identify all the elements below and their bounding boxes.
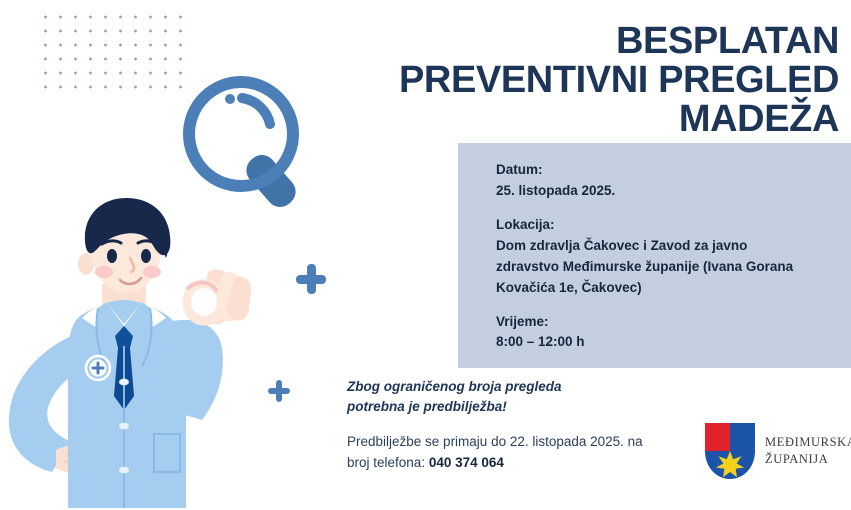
location-value: Dom zdravlja Čakovec i Zavod za javno zd… (496, 236, 806, 299)
date-value: 25. listopada 2025. (496, 181, 851, 202)
time-label: Vrijeme: (496, 312, 851, 333)
contact-phone: 040 374 064 (429, 455, 504, 470)
logo-name-line-1: MEĐIMURSKA (765, 434, 851, 451)
county-logo: MEĐIMURSKA ŽUPANIJA (703, 421, 851, 487)
note-line-1: Zbog ograničenog broja pregleda (347, 377, 647, 397)
page-title: BESPLATAN PREVENTIVNI PREGLED MADEŽA (279, 22, 839, 139)
detail-date: Datum: 25. listopada 2025. (496, 160, 851, 202)
event-details-box: Datum: 25. listopada 2025. Lokacija: Dom… (458, 143, 851, 368)
headline-line-1: BESPLATAN (279, 22, 839, 61)
contact-separator: : (421, 455, 429, 470)
registration-note: Zbog ograničenog broja pregleda potrebna… (347, 377, 647, 418)
dot-grid-decoration (38, 10, 190, 92)
county-coat-of-arms-icon (703, 421, 757, 483)
time-value: 8:00 – 12:00 h (496, 332, 851, 353)
date-label: Datum: (496, 160, 851, 181)
headline-line-2: PREVENTIVNI PREGLED (279, 61, 839, 100)
logo-name-line-2: ŽUPANIJA (765, 451, 851, 468)
note-line-2: potrebna je predbilježba! (347, 397, 647, 417)
detail-location: Lokacija: Dom zdravlja Čakovec i Zavod z… (496, 215, 851, 299)
headline-line-3: MADEŽA (279, 100, 839, 139)
detail-time: Vrijeme: 8:00 – 12:00 h (496, 312, 851, 354)
location-label: Lokacija: (496, 215, 851, 236)
contact-info: Predbilježbe se primaju do 22. listopada… (347, 432, 647, 474)
plus-decoration-small (268, 380, 290, 402)
county-logo-text: MEĐIMURSKA ŽUPANIJA (765, 434, 851, 469)
doctor-illustration (0, 196, 294, 510)
plus-decoration-large (296, 264, 326, 294)
poster-canvas: BESPLATAN PREVENTIVNI PREGLED MADEŽA Dat… (0, 0, 851, 510)
